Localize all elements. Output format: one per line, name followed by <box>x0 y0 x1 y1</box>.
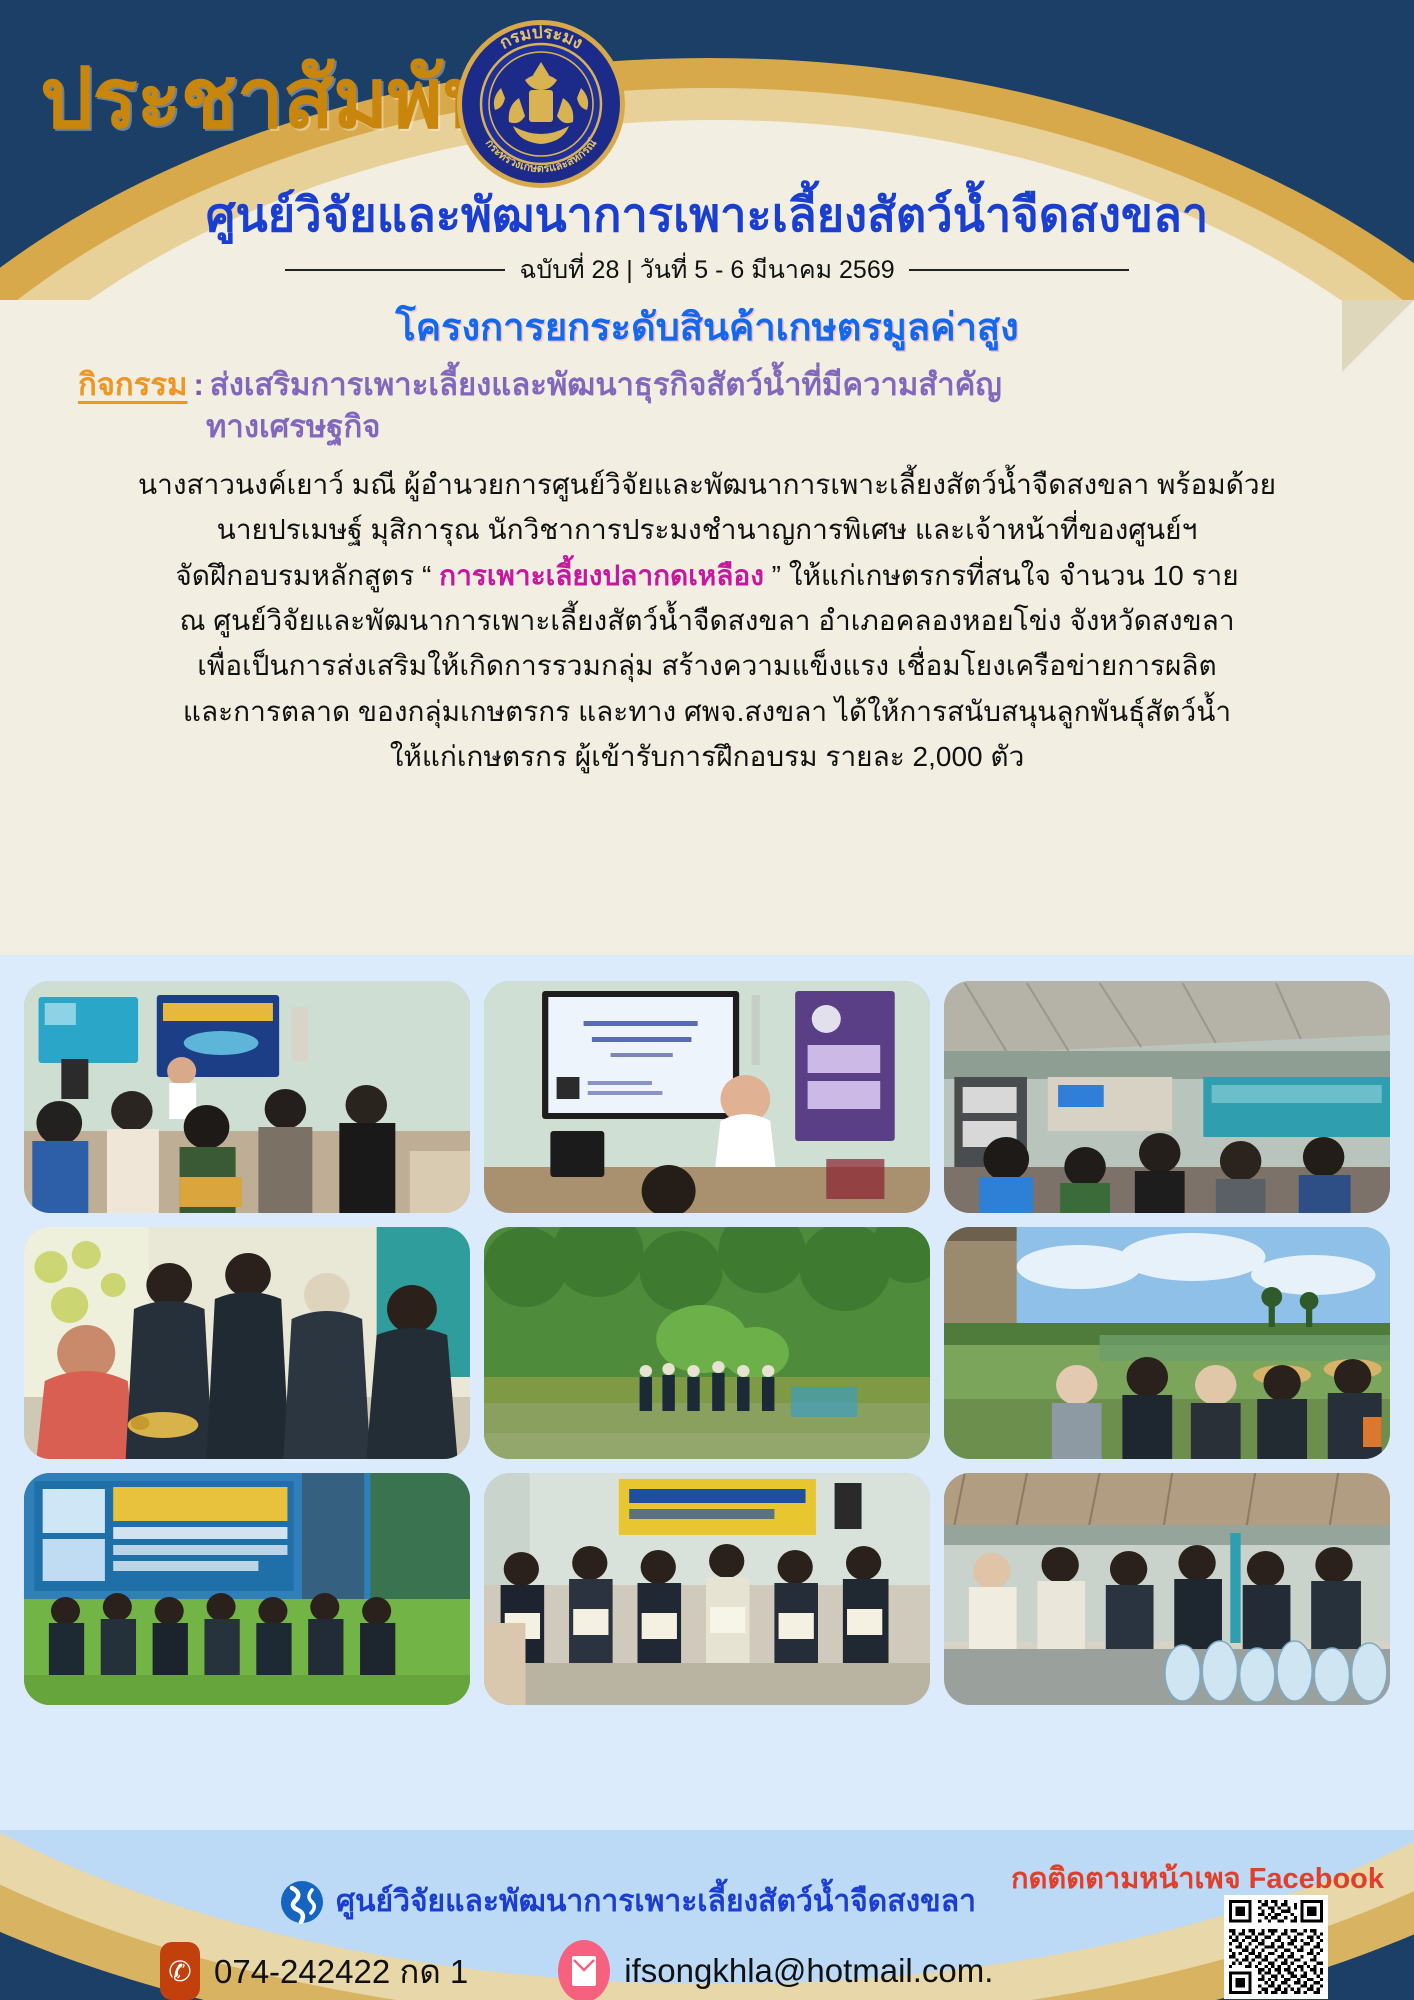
body-line-6: และการตลาด ของกลุ่มเกษตรกร และทาง ศพจ.สง… <box>50 689 1364 734</box>
issue-date-text: ฉบับที่ 28 | วันที่ 5 - 6 มีนาคม 2569 <box>519 250 894 290</box>
activity-colon: : <box>187 367 209 402</box>
mail-icon <box>558 1940 610 2000</box>
activity-label: กิจกรรม <box>78 367 187 402</box>
photo-grid <box>24 981 1390 1705</box>
activity-block: กิจกรรม:ส่งเสริมการเพาะเลี้ยงและพัฒนาธุร… <box>78 364 1348 447</box>
facebook-follow-note: กดติดตามหน้าเพจ Facebook <box>1011 1855 1384 1901</box>
photo-training-room-audience <box>24 981 470 1213</box>
body-paragraph: นางสาวนงค์เยาว์ มณี ผู้อำนวยการศูนย์วิจั… <box>50 462 1364 780</box>
globe-icon <box>280 1880 324 1924</box>
phone-number: 074-242422 กด 1 <box>214 1945 468 1998</box>
activity-value-line1: ส่งเสริมการเพาะเลี้ยงและพัฒนาธุรกิจสัตว์… <box>210 367 1002 402</box>
body-line-1: นางสาวนงค์เยาว์ มณี ผู้อำนวยการศูนย์วิจั… <box>50 462 1364 507</box>
photo-group-outdoor-banner <box>24 1473 470 1705</box>
rule-right <box>909 269 1129 271</box>
rule-left <box>285 269 505 271</box>
course-name-highlight: การเพาะเลี้ยงปลากดเหลือง <box>439 560 764 591</box>
activity-value-line2: ทางเศรษฐกิจ <box>206 406 1348 448</box>
contact-row: ✆ 074-242422 กด 1 ifsongkhla@hotmail.com… <box>160 1940 993 2000</box>
footer-center-line: ศูนย์วิจัยและพัฒนาการเพาะเลี้ยงสัตว์น้ำจ… <box>280 1878 976 1925</box>
body-line-3-pre: จัดฝึกอบรมหลักสูตร “ <box>175 560 439 591</box>
organization-title: ศูนย์วิจัยและพัฒนาการเพาะเลี้ยงสัตว์น้ำจ… <box>0 186 1414 243</box>
photo-certificate-ceremony <box>484 1473 930 1705</box>
project-title: โครงการยกระดับสินค้าเกษตรมูลค่าสูง <box>0 296 1414 357</box>
body-line-3-post: ” ให้แก่เกษตรกรที่สนใจ จำนวน 10 ราย <box>764 560 1239 591</box>
email-contact[interactable]: ifsongkhla@hotmail.com. <box>558 1940 993 2000</box>
phone-icon: ✆ <box>160 1942 200 2000</box>
photo-pond-field-trip <box>484 1227 930 1459</box>
photo-hatchery-visit <box>944 981 1390 1213</box>
body-line-5: เพื่อเป็นการส่งเสริมให้เกิดการรวมกลุ่ม ส… <box>50 643 1364 688</box>
body-line-4: ณ ศูนย์วิจัยและพัฒนาการเพาะเลี้ยงสัตว์น้… <box>50 598 1364 643</box>
body-line-3: จัดฝึกอบรมหลักสูตร “ การเพาะเลี้ยงปลากดเ… <box>50 553 1364 598</box>
issue-date-row: ฉบับที่ 28 | วันที่ 5 - 6 มีนาคม 2569 <box>0 250 1414 290</box>
photo-speaker-presentation <box>484 981 930 1213</box>
photo-pond-side-group <box>944 1227 1390 1459</box>
photo-gallery <box>0 955 1414 1830</box>
photo-fish-handling <box>24 1227 470 1459</box>
footer-center-name: ศูนย์วิจัยและพัฒนาการเพาะเลี้ยงสัตว์น้ำจ… <box>336 1878 976 1925</box>
body-line-7: ให้แก่เกษตรกร ผู้เข้ารับการฝึกอบรม รายละ… <box>50 734 1364 779</box>
phone-contact[interactable]: ✆ 074-242422 กด 1 <box>160 1942 468 2000</box>
email-address: ifsongkhla@hotmail.com. <box>624 1952 993 1990</box>
photo-fingerling-distribution <box>944 1473 1390 1705</box>
facebook-qr-code[interactable] <box>1224 1895 1328 1999</box>
poster-root: ประชาสัมพันธ์ กรมประมง กระทรวงเกษตร <box>0 0 1414 2000</box>
body-line-2: นายปรเมษฐ์ มุสิการุณ นักวิชาการประมงชำนา… <box>50 507 1364 552</box>
department-of-fisheries-emblem: กรมประมง กระทรวงเกษตรและสหกรณ์ <box>455 18 627 190</box>
